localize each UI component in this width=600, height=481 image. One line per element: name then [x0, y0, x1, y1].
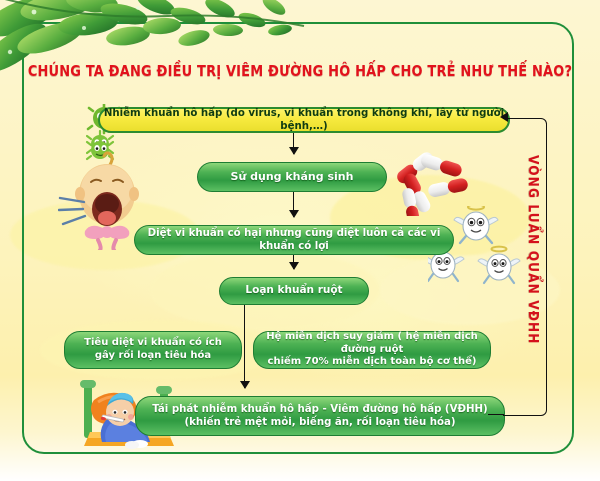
infographic-poster: CHÚNG TA ĐANG ĐIỀU TRỊ VIÊM ĐƯỜNG HÔ HẤP…: [0, 0, 600, 481]
flow-arrow-2-to-3: [293, 192, 294, 217]
flow-step-5b-line1: Hệ miễn dịch suy giảm ( hệ miễn dịch đườ…: [266, 331, 478, 355]
vicious-cycle-label: VÒNG LUẨN QUẨN VĐHH: [525, 155, 541, 365]
flow-step-1: Nhiễm khuẩn hô hấp (do virus, vi khuẩn t…: [98, 107, 510, 133]
flow-step-2: Sử dụng kháng sinh: [197, 162, 387, 192]
flow-step-6-line1: Tái phát nhiễm khuẩn hô hấp - Viêm đường…: [152, 404, 487, 415]
flow-step-6: Tái phát nhiễm khuẩn hô hấp - Viêm đường…: [135, 396, 505, 436]
flow-step-5b-line2: chiếm 70% miễn dịch toàn bộ cơ thể): [268, 356, 477, 367]
feedback-loop-arrowhead: [500, 112, 508, 122]
flow-step-5a-text: Tiêu diệt vi khuẩn có ích gây rối loạn t…: [84, 337, 222, 363]
flow-step-4: Loạn khuẩn ruột: [219, 277, 369, 305]
flow-step-5a: Tiêu diệt vi khuẩn có ích gây rối loạn t…: [64, 331, 242, 369]
flow-step-5b-text: Hệ miễn dịch suy giảm ( hệ miễn dịch đườ…: [254, 331, 490, 369]
feedback-loop-bottom-connector: [488, 414, 504, 415]
flow-step-6-text: Tái phát nhiễm khuẩn hô hấp - Viêm đường…: [152, 403, 487, 429]
flow-step-3: Diệt vi khuẩn có hại nhưng cũng diệt luô…: [134, 225, 454, 255]
flow-step-6-line2: (khiến trẻ mệt mỏi, biếng ăn, rối loạn t…: [184, 417, 455, 428]
flow-step-5b: Hệ miễn dịch suy giảm ( hệ miễn dịch đườ…: [253, 331, 491, 369]
flow-step-3-text: Diệt vi khuẩn có hại nhưng cũng diệt luô…: [135, 227, 453, 253]
flow-arrow-3-to-4: [293, 255, 294, 269]
flow-step-5a-line1: Tiêu diệt vi khuẩn có ích: [84, 337, 222, 348]
page-title: CHÚNG TA ĐANG ĐIỀU TRỊ VIÊM ĐƯỜNG HÔ HẤP…: [21, 62, 579, 80]
flow-arrow-4-to-6: [244, 305, 245, 388]
flow-step-1-text: Nhiễm khuẩn hô hấp (do virus, vi khuẩn t…: [100, 107, 508, 133]
flow-arrow-1-to-2: [293, 133, 294, 154]
flow-step-4-text: Loạn khuẩn ruột: [245, 284, 342, 297]
flow-step-2-text: Sử dụng kháng sinh: [231, 170, 354, 184]
flow-step-5a-line2: gây rối loạn tiêu hóa: [95, 350, 211, 361]
